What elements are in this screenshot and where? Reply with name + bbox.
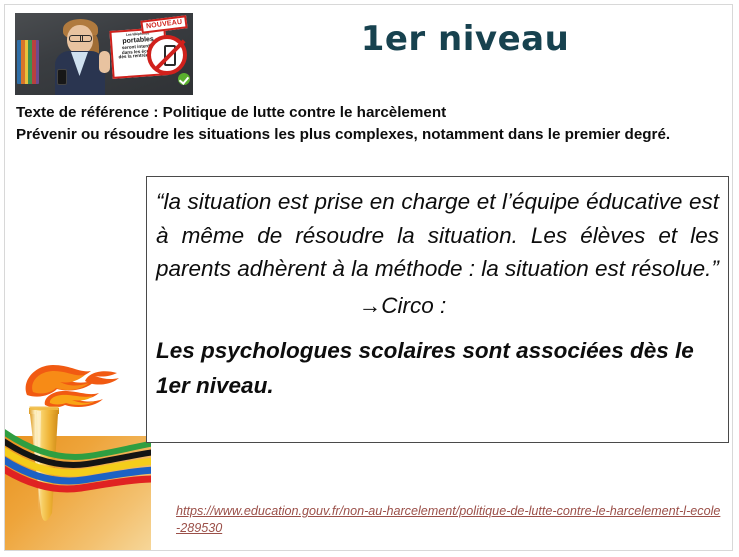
flame-group xyxy=(26,365,119,407)
source-link[interactable]: https://www.education.gouv.fr/non-au-har… xyxy=(176,503,724,537)
quote-box: “la situation est prise en charge et l’é… xyxy=(146,176,729,443)
emphasis-text: Les psychologues scolaires sont associée… xyxy=(154,333,721,403)
header-photo-image: Les téléphones portables seront interdit… xyxy=(15,13,193,95)
olympic-torch-graphic xyxy=(5,343,151,551)
reference-block: Texte de référence : Politique de lutte … xyxy=(16,102,716,145)
girl-arm xyxy=(99,51,110,73)
girl-glasses xyxy=(69,35,92,42)
no-phone-icon xyxy=(147,35,187,75)
page-title: 1er niveau xyxy=(205,19,725,59)
girl-phone xyxy=(57,69,67,85)
torch-svg xyxy=(5,343,151,551)
circo-line: →Circo : xyxy=(154,289,721,323)
slide-canvas: Les téléphones portables seront interdit… xyxy=(4,4,733,551)
reference-heading: Texte de référence : Politique de lutte … xyxy=(16,102,716,124)
check-icon xyxy=(178,73,190,85)
books-stack xyxy=(17,40,39,84)
ribbon-group xyxy=(5,430,151,489)
reference-subtitle: Prévenir ou résoudre les situations les … xyxy=(16,124,716,146)
quote-text: “la situation est prise en charge et l’é… xyxy=(154,185,721,286)
